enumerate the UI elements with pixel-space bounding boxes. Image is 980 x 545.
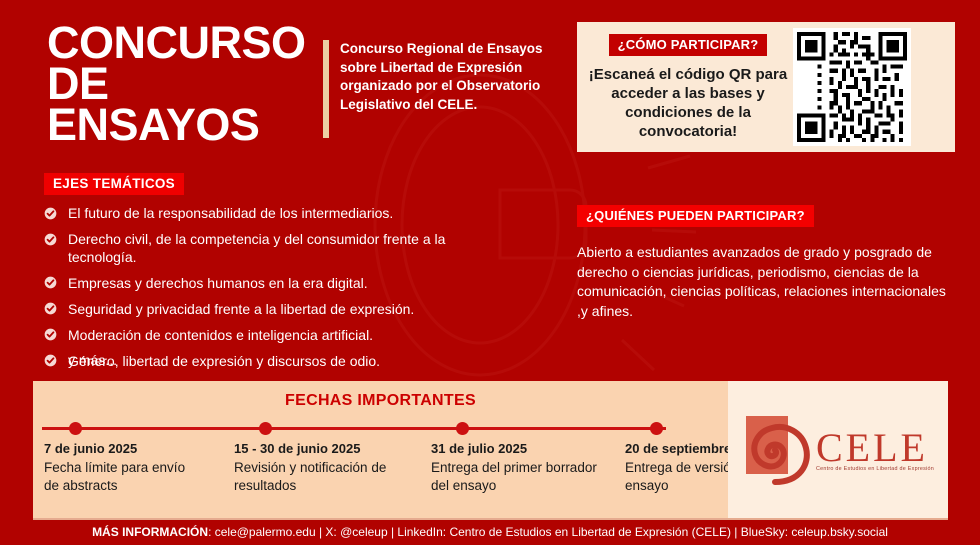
timeline-item: 31 de julio 2025Entrega del primer borra… [431, 440, 601, 494]
timeline-date: 7 de junio 2025 [44, 440, 194, 457]
qr-instruction-text: ¡Escaneá el código QR para acceder a las… [583, 65, 793, 141]
timeline-dot [650, 422, 663, 435]
footer-details: : cele@palermo.edu | X: @celeup | Linked… [208, 525, 888, 539]
check-circle-icon [44, 233, 57, 246]
list-item: El futuro de la responsabilidad de los i… [44, 205, 504, 223]
footer-contact: MÁS INFORMACIÓN: cele@palermo.edu | X: @… [0, 524, 980, 540]
list-item: Moderación de contenidos e inteligencia … [44, 327, 504, 345]
cele-name: CELE [816, 428, 934, 468]
footer-label: MÁS INFORMACIÓN [92, 525, 208, 539]
topics-badge: EJES TEMÁTICOS [44, 173, 184, 195]
list-item: Derecho civil, de la competencia y del c… [44, 231, 504, 266]
timeline-track [42, 427, 666, 430]
cele-spiral-logo-icon [742, 410, 814, 490]
topic-text: Seguridad y privacidad frente a la liber… [68, 301, 414, 317]
footer-divider [33, 518, 948, 520]
topic-text: Empresas y derechos humanos en la era di… [68, 275, 368, 291]
topics-more-label: y más... [68, 352, 117, 368]
check-circle-icon [44, 302, 57, 315]
how-to-participate-badge: ¿CÓMO PARTICIPAR? [609, 34, 768, 56]
title-line-3: ENSAYOS [47, 104, 317, 145]
topic-text: Derecho civil, de la competencia y del c… [68, 231, 445, 265]
timeline-description: Fecha límite para envío de abstracts [44, 459, 194, 494]
title-line-1: CONCURSO [47, 22, 317, 63]
list-item: Empresas y derechos humanos en la era di… [44, 275, 504, 293]
how-to-participate-card: ¿CÓMO PARTICIPAR? ¡Escaneá el código QR … [577, 22, 955, 152]
timeline-item: 15 - 30 de junio 2025Revisión y notifica… [234, 440, 404, 494]
cele-logo-panel: CELE Centro de Estudios en Libertad de E… [728, 381, 948, 518]
page-title: CONCURSO DE ENSAYOS [47, 22, 317, 145]
timeline-date: 15 - 30 de junio 2025 [234, 440, 404, 457]
timeline-item: 7 de junio 2025Fecha límite para envío d… [44, 440, 194, 494]
title-line-2: DE [47, 63, 317, 104]
poster-root: CONCURSO DE ENSAYOS Concurso Regional de… [0, 0, 980, 545]
important-dates-title: FECHAS IMPORTANTES [33, 392, 728, 410]
check-circle-icon [44, 207, 57, 220]
timeline-dot [259, 422, 272, 435]
topic-text: El futuro de la responsabilidad de los i… [68, 205, 393, 221]
timeline-dot [456, 422, 469, 435]
timeline-date: 31 de julio 2025 [431, 440, 601, 457]
who-can-participate-badge: ¿QUIÉNES PUEDEN PARTICIPAR? [577, 205, 814, 227]
cele-tagline: Centro de Estudios en Libertad de Expres… [816, 466, 934, 472]
title-accent-bar [323, 40, 329, 138]
qr-card-text-column: ¿CÓMO PARTICIPAR? ¡Escaneá el código QR … [577, 34, 793, 141]
check-circle-icon [44, 276, 57, 289]
cele-logo[interactable]: CELE Centro de Estudios en Libertad de E… [742, 410, 934, 490]
qr-code-icon[interactable] [793, 28, 911, 146]
timeline-dot [69, 422, 82, 435]
cele-wordmark: CELE Centro de Estudios en Libertad de E… [816, 428, 934, 472]
topic-text: Moderación de contenidos e inteligencia … [68, 327, 373, 343]
who-can-participate-text: Abierto a estudiantes avanzados de grado… [577, 243, 947, 321]
list-item: Seguridad y privacidad frente a la liber… [44, 301, 504, 319]
timeline-description: Revisión y notificación de resultados [234, 459, 404, 494]
header-subtitle: Concurso Regional de Ensayos sobre Liber… [340, 40, 555, 114]
check-circle-icon [44, 328, 57, 341]
timeline-description: Entrega del primer borrador del ensayo [431, 459, 601, 494]
check-circle-icon [44, 354, 57, 367]
